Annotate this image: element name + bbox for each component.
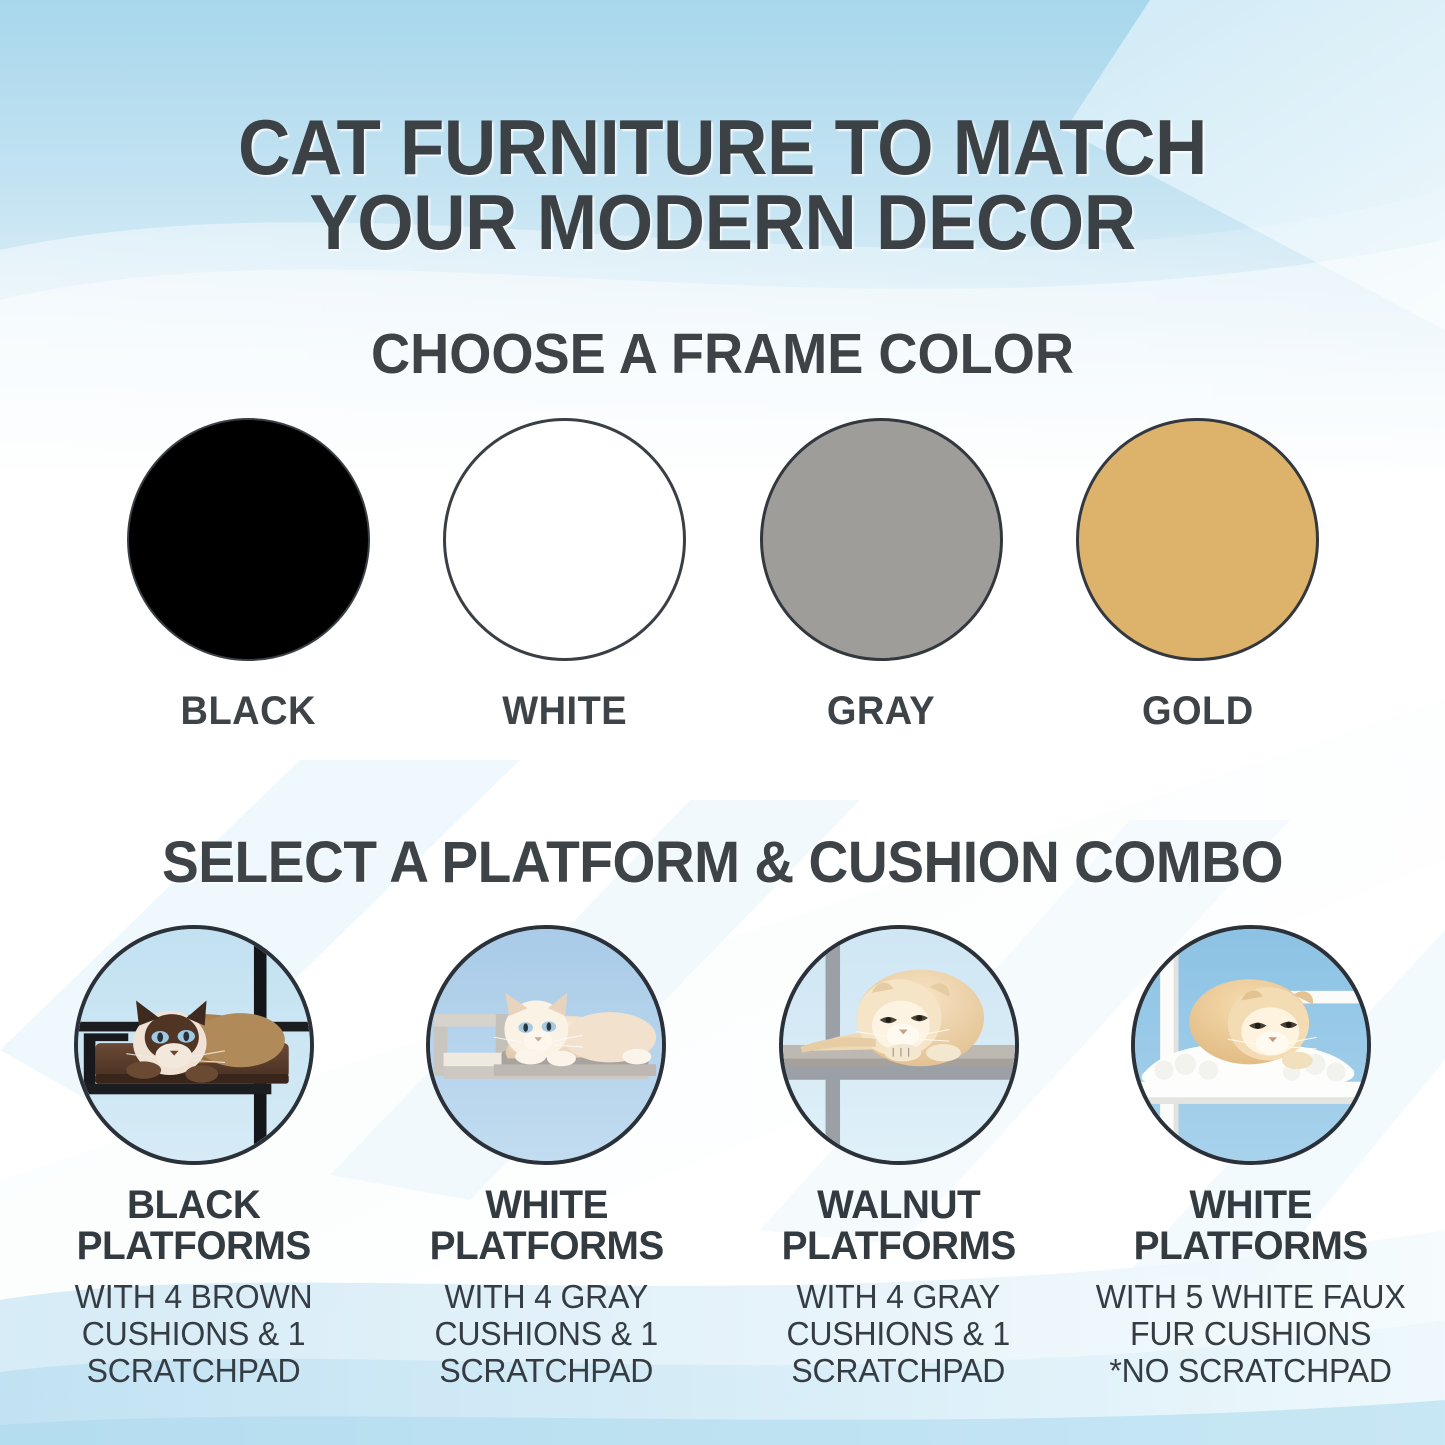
platform-cushion-option-row: BLACK PLATFORMS WITH 4 BROWN CUSHIONS & … [18, 925, 1427, 1389]
combo-sub-line-1: WITH 5 WHITE FAUX [1096, 1279, 1406, 1316]
headline-line-2: YOUR MODERN DECOR [51, 185, 1395, 260]
page-title: CAT FURNITURE TO MATCH YOUR MODERN DECOR [51, 110, 1395, 260]
frame-color-swatch-row: BLACK WHITE GRAY GOLD [108, 418, 1338, 734]
swatch-label-black: BLACK [180, 689, 315, 734]
combo-subtitle-white-faux-fur: WITH 5 WHITE FAUX FUR CUSHIONS *NO SCRAT… [1096, 1279, 1406, 1390]
swatch-disc-white[interactable] [443, 418, 686, 661]
combo-sub-line-2: FUR CUSHIONS [1096, 1316, 1406, 1353]
combo-title-line-2: PLATFORMS [429, 1226, 663, 1267]
combo-option-white-platforms-gray[interactable]: WHITE PLATFORMS WITH 4 GRAY CUSHIONS & 1… [370, 925, 722, 1389]
product-options-infographic: CAT FURNITURE TO MATCH YOUR MODERN DECOR… [0, 0, 1445, 1445]
combo-title-white-faux-fur: WHITE PLATFORMS [1134, 1185, 1368, 1267]
swatch-label-white: WHITE [502, 689, 627, 734]
combo-subtitle-black: WITH 4 BROWN CUSHIONS & 1 SCRATCHPAD [75, 1279, 313, 1390]
combo-subtitle-white-gray: WITH 4 GRAY CUSHIONS & 1 SCRATCHPAD [435, 1279, 659, 1390]
combo-option-black-platforms[interactable]: BLACK PLATFORMS WITH 4 BROWN CUSHIONS & … [18, 925, 370, 1389]
white-platform-gray-cushion-photo[interactable] [426, 925, 666, 1165]
black-platform-brown-cushion-photo[interactable] [74, 925, 314, 1165]
swatch-disc-gray[interactable] [760, 418, 1003, 661]
combo-sub-line-1: WITH 4 BROWN [75, 1279, 313, 1316]
combo-title-line-1: WHITE [429, 1185, 663, 1226]
combo-title-line-2: PLATFORMS [782, 1226, 1016, 1267]
platform-cushion-section-heading: SELECT A PLATFORM & CUSHION COMBO [36, 834, 1409, 892]
combo-sub-line-3: SCRATCHPAD [435, 1353, 659, 1390]
combo-title-line-1: BLACK [77, 1185, 311, 1226]
combo-sub-line-3: SCRATCHPAD [75, 1353, 313, 1390]
combo-option-walnut-platforms[interactable]: WALNUT PLATFORMS WITH 4 GRAY CUSHIONS & … [723, 925, 1075, 1389]
frame-color-option-white[interactable]: WHITE [425, 418, 705, 734]
combo-option-white-platforms-faux-fur[interactable]: WHITE PLATFORMS WITH 5 WHITE FAUX FUR CU… [1075, 925, 1427, 1389]
white-platform-faux-fur-photo[interactable] [1131, 925, 1371, 1165]
combo-title-walnut: WALNUT PLATFORMS [782, 1185, 1016, 1267]
headline-line-1: CAT FURNITURE TO MATCH [51, 110, 1395, 185]
combo-title-line-2: PLATFORMS [1134, 1226, 1368, 1267]
combo-title-line-1: WHITE [1134, 1185, 1368, 1226]
combo-sub-line-1: WITH 4 GRAY [435, 1279, 659, 1316]
combo-sub-line-2: CUSHIONS & 1 [787, 1316, 1011, 1353]
combo-title-line-2: PLATFORMS [77, 1226, 311, 1267]
frame-color-section-heading: CHOOSE A FRAME COLOR [36, 326, 1409, 383]
walnut-platform-gray-cushion-photo[interactable] [779, 925, 1019, 1165]
combo-sub-line-1: WITH 4 GRAY [787, 1279, 1011, 1316]
combo-title-line-1: WALNUT [782, 1185, 1016, 1226]
swatch-disc-gold[interactable] [1076, 418, 1319, 661]
swatch-disc-black[interactable] [127, 418, 370, 661]
combo-sub-line-3: SCRATCHPAD [787, 1353, 1011, 1390]
frame-color-option-black[interactable]: BLACK [108, 418, 388, 734]
combo-subtitle-walnut: WITH 4 GRAY CUSHIONS & 1 SCRATCHPAD [787, 1279, 1011, 1390]
frame-color-option-gray[interactable]: GRAY [741, 418, 1021, 734]
frame-color-option-gold[interactable]: GOLD [1058, 418, 1338, 734]
combo-title-white-gray: WHITE PLATFORMS [429, 1185, 663, 1267]
swatch-label-gray: GRAY [827, 689, 935, 734]
swatch-label-gold: GOLD [1142, 689, 1254, 734]
combo-sub-line-2: CUSHIONS & 1 [435, 1316, 659, 1353]
combo-sub-line-3: *NO SCRATCHPAD [1096, 1353, 1406, 1390]
combo-sub-line-2: CUSHIONS & 1 [75, 1316, 313, 1353]
combo-title-black: BLACK PLATFORMS [77, 1185, 311, 1267]
